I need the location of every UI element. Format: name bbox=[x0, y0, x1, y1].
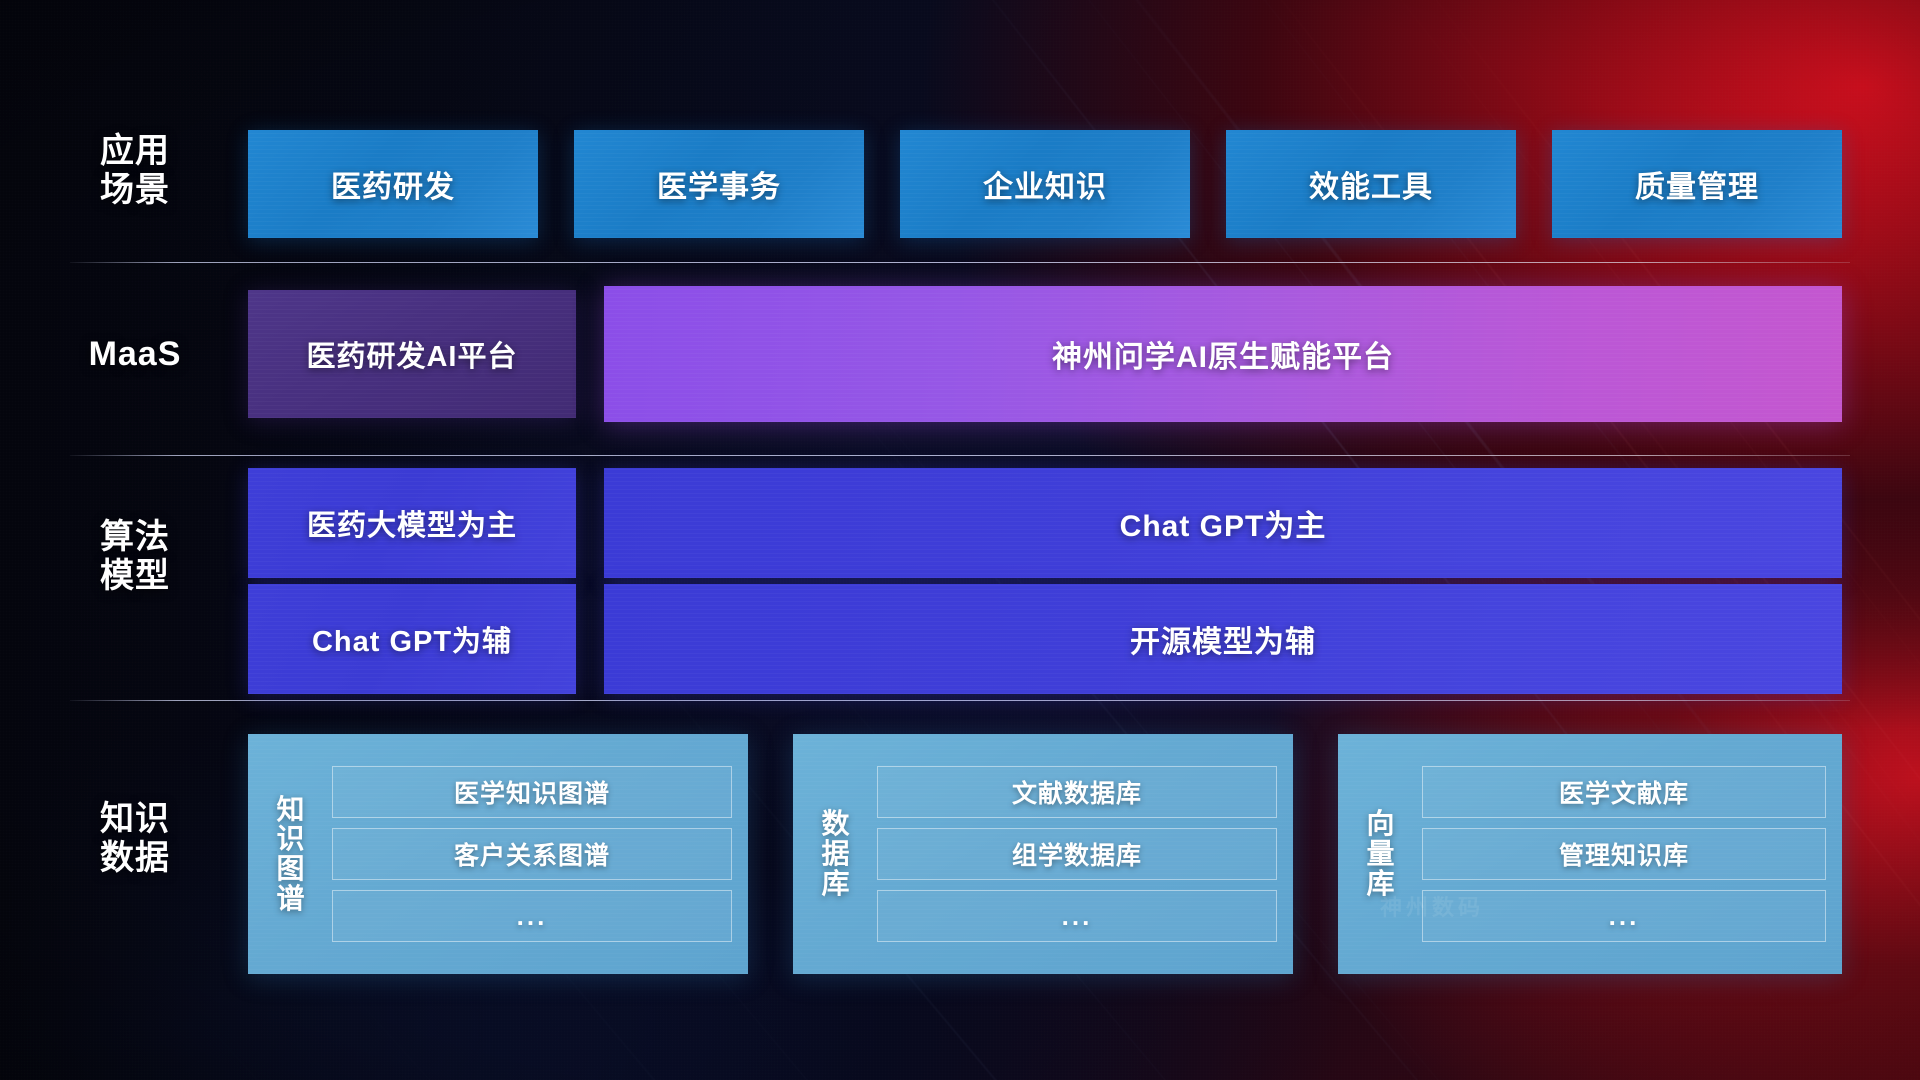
row-label-maas: MaaS bbox=[70, 335, 200, 374]
algorithm-secondary-right-label: 开源模型为辅 bbox=[1130, 617, 1316, 661]
knowledge-item-1-2[interactable]: 客户关系图谱 bbox=[332, 828, 732, 880]
algorithm-primary-right-label: Chat GPT为主 bbox=[1120, 501, 1327, 545]
divider-above-algorithm bbox=[70, 455, 1850, 456]
knowledge-panel-items-1: 医学知识图谱 客户关系图谱 ... bbox=[332, 766, 732, 942]
knowledge-panel-vector-store[interactable]: 向量库 医学文献库 管理知识库 ... bbox=[1338, 734, 1842, 974]
row-label-knowledge: 知识 数据 bbox=[70, 800, 200, 878]
knowledge-panel-title-2: 数据库 bbox=[807, 809, 865, 898]
knowledge-item-2-2[interactable]: 组学数据库 bbox=[877, 828, 1277, 880]
algorithm-primary-left-box[interactable]: 医药大模型为主 bbox=[248, 468, 576, 578]
knowledge-panel-items-3: 医学文献库 管理知识库 ... bbox=[1422, 766, 1826, 942]
app-scenario-box-5[interactable]: 质量管理 bbox=[1552, 130, 1842, 238]
maas-enablement-platform-box[interactable]: 神州问学AI原生赋能平台 bbox=[604, 286, 1842, 422]
app-scenario-box-1[interactable]: 医药研发 bbox=[248, 130, 538, 238]
row-label-application: 应用 场景 bbox=[70, 132, 200, 210]
divider-above-knowledge bbox=[70, 700, 1850, 701]
knowledge-item-2-3[interactable]: ... bbox=[877, 890, 1277, 942]
row-label-algorithm: 算法 模型 bbox=[70, 518, 200, 596]
app-scenario-box-2[interactable]: 医学事务 bbox=[574, 130, 864, 238]
algorithm-primary-left-label: 医药大模型为主 bbox=[307, 502, 517, 544]
knowledge-item-3-1[interactable]: 医学文献库 bbox=[1422, 766, 1826, 818]
algorithm-primary-right-box[interactable]: Chat GPT为主 bbox=[604, 468, 1842, 578]
architecture-diagram: 应用 场景 MaaS 算法 模型 知识 数据 医药研发 医学事务 企业知识 效能… bbox=[0, 0, 1920, 1080]
knowledge-item-1-3[interactable]: ... bbox=[332, 890, 732, 942]
maas-platform-label: 医药研发AI平台 bbox=[306, 333, 517, 375]
maas-platform-box[interactable]: 医药研发AI平台 bbox=[248, 290, 576, 418]
app-scenario-box-4[interactable]: 效能工具 bbox=[1226, 130, 1516, 238]
knowledge-item-3-3[interactable]: ... bbox=[1422, 890, 1826, 942]
app-scenario-label-5: 质量管理 bbox=[1635, 162, 1759, 206]
knowledge-panel-items-2: 文献数据库 组学数据库 ... bbox=[877, 766, 1277, 942]
knowledge-item-3-2[interactable]: 管理知识库 bbox=[1422, 828, 1826, 880]
knowledge-panel-knowledge-graph[interactable]: 知识图谱 医学知识图谱 客户关系图谱 ... bbox=[248, 734, 748, 974]
app-scenario-label-3: 企业知识 bbox=[983, 162, 1107, 206]
maas-enablement-platform-label: 神州问学AI原生赋能平台 bbox=[1052, 332, 1394, 376]
knowledge-item-2-1[interactable]: 文献数据库 bbox=[877, 766, 1277, 818]
app-scenario-label-2: 医学事务 bbox=[657, 162, 781, 206]
knowledge-panel-database[interactable]: 数据库 文献数据库 组学数据库 ... bbox=[793, 734, 1293, 974]
knowledge-panel-title-1: 知识图谱 bbox=[262, 795, 320, 914]
app-scenario-box-3[interactable]: 企业知识 bbox=[900, 130, 1190, 238]
app-scenario-label-4: 效能工具 bbox=[1309, 162, 1433, 206]
knowledge-panel-title-3: 向量库 bbox=[1352, 809, 1410, 898]
divider-above-maas bbox=[70, 262, 1850, 263]
algorithm-secondary-left-label: Chat GPT为辅 bbox=[312, 618, 512, 660]
algorithm-secondary-right-box[interactable]: 开源模型为辅 bbox=[604, 584, 1842, 694]
app-scenario-label-1: 医药研发 bbox=[331, 162, 455, 206]
algorithm-secondary-left-box[interactable]: Chat GPT为辅 bbox=[248, 584, 576, 694]
knowledge-item-1-1[interactable]: 医学知识图谱 bbox=[332, 766, 732, 818]
